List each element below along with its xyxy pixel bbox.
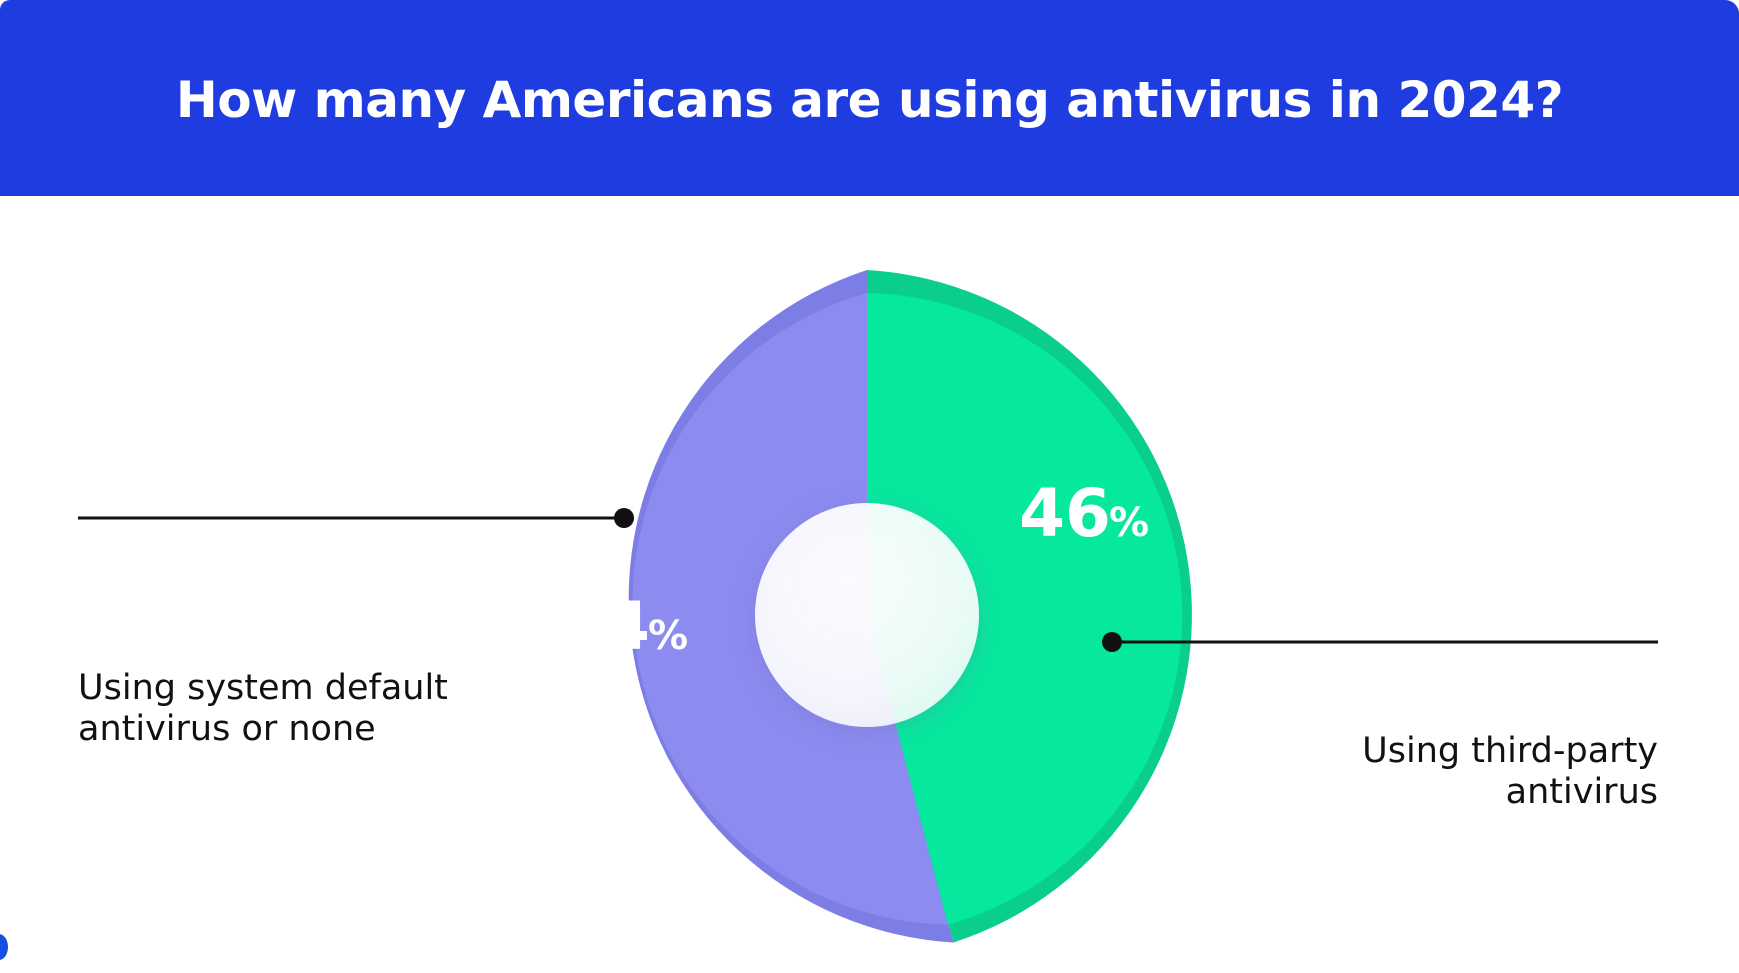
pie-chart-region: 54 % 46 % Using system default antivirus… (0, 196, 1739, 973)
infographic-canvas: How many Americans are using antivirus i… (0, 0, 1739, 973)
callout-label-default: Using system default antivirus or none (78, 668, 638, 751)
data-label-third-party-symbol: % (1109, 500, 1149, 546)
header-banner: How many Americans are using antivirus i… (0, 0, 1739, 196)
leader-dot-left (614, 508, 634, 528)
data-label-default-symbol: % (648, 613, 688, 659)
pie-chart-svg: 54 % 46 % (0, 196, 1739, 973)
data-label-third-party-value: 46 (1019, 475, 1111, 552)
callout-label-third-party: Using third-party antivirus (1078, 731, 1658, 814)
donut-center-hole (755, 503, 979, 727)
data-label-default-value: 54 (558, 588, 650, 665)
page-title: How many Americans are using antivirus i… (176, 71, 1563, 129)
leader-dot-right (1102, 632, 1122, 652)
